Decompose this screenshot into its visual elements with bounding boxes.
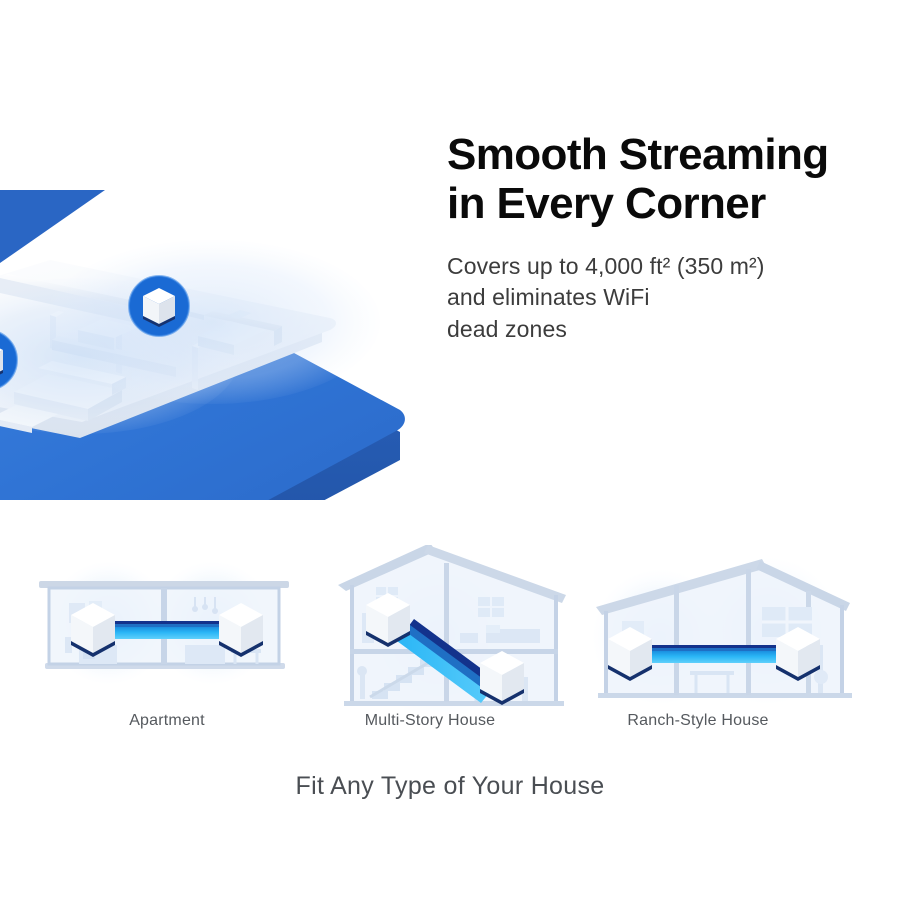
caption-multi-story: Multi-Story House (300, 712, 560, 730)
floorplan-coverage-svg (0, 160, 450, 500)
hero-description-line-2: and eliminates WiFi (447, 282, 867, 314)
marketing-page: Smooth Streaming in Every Corner Covers … (0, 0, 900, 900)
caption-apartment: Apartment (37, 712, 297, 730)
router-cube-icon (143, 288, 175, 327)
caption-ranch-style: Ranch-Style House (568, 712, 828, 730)
section-tagline: Fit Any Type of Your House (0, 772, 900, 801)
headline-line-1: Smooth Streaming (447, 130, 829, 179)
mesh-link-beam (648, 645, 780, 663)
page-title: Smooth Streaming in Every Corner (447, 130, 867, 229)
hero-description-line-1: Covers up to 4,000 ft² (350 m²) (447, 251, 867, 283)
hero-illustration (0, 160, 450, 500)
mesh-unit-badge-2 (129, 276, 189, 336)
hero-description: Covers up to 4,000 ft² (350 m²) and elim… (447, 251, 867, 346)
headline-line-2: in Every Corner (447, 179, 867, 228)
coverage-ellipse-2 (44, 240, 380, 404)
mesh-link-beam (113, 621, 221, 639)
hero-description-line-3: dead zones (447, 314, 867, 346)
hero-copy: Smooth Streaming in Every Corner Covers … (447, 130, 867, 346)
